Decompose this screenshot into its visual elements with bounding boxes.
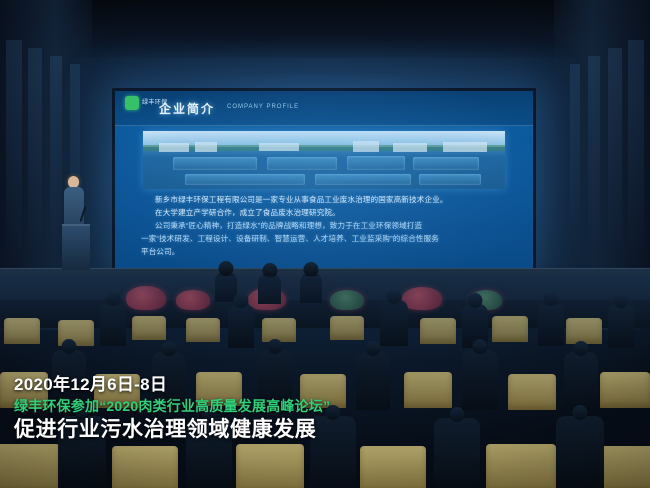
audience-chair bbox=[566, 318, 602, 344]
audience-person bbox=[538, 302, 564, 346]
audience-chair bbox=[112, 446, 178, 488]
slide-line-2: 在大学建立产学研合作，成立了食品废水治理研究院。 bbox=[141, 208, 513, 218]
slide-line-4: 一家“技术研发、工程设计、设备研制、智慧运营、人才培养、工业监采购”的综合性服务 bbox=[141, 234, 513, 244]
slide-title-english: COMPANY PROFILE bbox=[227, 104, 299, 110]
slide-line-3: 公司秉承“匠心精神，打造绿水”的品牌战略和理想，致力于在工业环保领域打造 bbox=[141, 221, 513, 231]
audience-chair bbox=[132, 316, 166, 340]
audience-chair bbox=[486, 444, 556, 488]
audience-person bbox=[380, 300, 408, 346]
caption-subtitle: 绿丰环保参加“2020肉类行业高质量发展高峰论坛” bbox=[14, 396, 574, 416]
audience-chair bbox=[492, 316, 528, 342]
audience-chair bbox=[360, 446, 426, 488]
caption-date: 2020年12月6日-8日 bbox=[14, 374, 574, 396]
audience-person bbox=[228, 304, 254, 348]
presenter-at-podium bbox=[62, 176, 88, 272]
audience-person bbox=[300, 273, 322, 303]
audience-chair bbox=[4, 318, 40, 344]
audience-chair bbox=[186, 318, 220, 342]
slide-aerial-photo bbox=[143, 131, 505, 189]
led-presentation-screen: 绿丰环保 企业简介 COMPANY PROFILE bbox=[112, 88, 536, 276]
ceiling bbox=[0, 0, 650, 58]
caption-overlay: 2020年12月6日-8日 绿丰环保参加“2020肉类行业高质量发展高峰论坛” … bbox=[14, 374, 574, 444]
podium bbox=[62, 224, 90, 270]
audience-person bbox=[258, 274, 281, 304]
slide-header: 绿丰环保 企业简介 COMPANY PROFILE bbox=[115, 91, 533, 126]
slide-line-1: 新乡市绿丰环保工程有限公司是一家专业从事食品工业废水治理的国家高新技术企业。 bbox=[141, 195, 513, 205]
audience-chair bbox=[0, 444, 60, 488]
caption-headline: 促进行业污水治理领域健康发展 bbox=[14, 416, 574, 444]
leaf-logo-icon bbox=[125, 96, 139, 110]
photo-screenshot: 绿丰环保 企业简介 COMPANY PROFILE bbox=[0, 0, 650, 488]
audience-chair bbox=[600, 446, 650, 488]
audience-person bbox=[608, 304, 634, 348]
slide-surface: 绿丰环保 企业简介 COMPANY PROFILE bbox=[115, 91, 533, 273]
audience-chair bbox=[600, 372, 650, 408]
slide-title: 企业简介 bbox=[159, 100, 215, 117]
audience-chair bbox=[420, 318, 456, 344]
audience-chair bbox=[236, 444, 304, 488]
slide-body-text: 新乡市绿丰环保工程有限公司是一家专业从事食品工业废水治理的国家高新技术企业。 在… bbox=[141, 195, 513, 257]
audience-person bbox=[100, 302, 126, 346]
audience-chair bbox=[330, 316, 364, 340]
slide-line-5: 平台公司。 bbox=[141, 247, 513, 257]
audience-chair bbox=[262, 318, 296, 342]
